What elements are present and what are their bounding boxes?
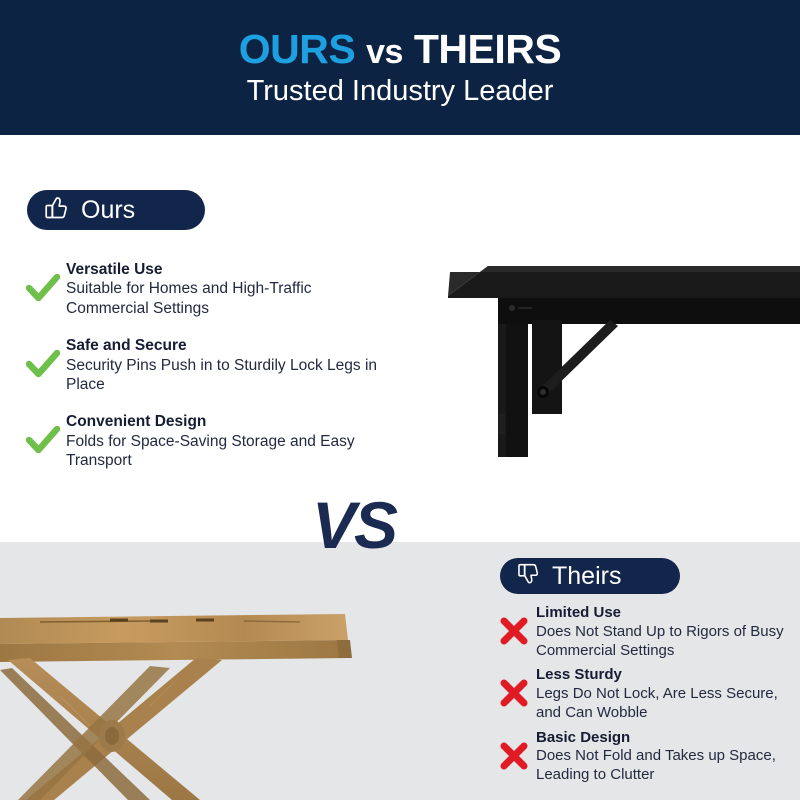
check-icon xyxy=(20,260,66,304)
feature-desc: Does Not Fold and Takes up Space, Leadin… xyxy=(536,747,792,785)
feature-text: Safe and Secure Security Pins Push in to… xyxy=(66,336,390,394)
theirs-badge: Theirs xyxy=(500,558,680,594)
theirs-product-image xyxy=(0,596,362,800)
feature-desc: Legs Do Not Lock, Are Less Secure, and C… xyxy=(536,685,792,723)
feature-text: Versatile Use Suitable for Homes and Hig… xyxy=(66,260,390,318)
list-item: Safe and Secure Security Pins Push in to… xyxy=(20,336,390,394)
ours-badge: Ours xyxy=(27,190,205,230)
page-subtitle: Trusted Industry Leader xyxy=(247,77,554,106)
list-item: Limited Use Does Not Stand Up to Rigors … xyxy=(492,604,792,660)
feature-title: Convenient Design xyxy=(66,412,390,431)
title-theirs-word: THEIRS xyxy=(414,26,561,72)
list-item: Versatile Use Suitable for Homes and Hig… xyxy=(20,260,390,318)
ours-product-image xyxy=(410,252,800,482)
list-item: Basic Design Does Not Fold and Takes up … xyxy=(492,729,792,785)
check-icon xyxy=(20,412,66,456)
feature-title: Safe and Secure xyxy=(66,336,390,355)
feature-text: Convenient Design Folds for Space-Saving… xyxy=(66,412,390,470)
feature-title: Limited Use xyxy=(536,604,792,623)
theirs-feature-list: Limited Use Does Not Stand Up to Rigors … xyxy=(492,604,792,791)
title-vs-word: vs xyxy=(366,33,403,71)
feature-text: Limited Use Does Not Stand Up to Rigors … xyxy=(536,604,792,660)
theirs-badge-label: Theirs xyxy=(552,564,621,589)
feature-text: Basic Design Does Not Fold and Takes up … xyxy=(536,729,792,785)
page-title: OURS vs THEIRS xyxy=(239,29,561,70)
feature-desc: Does Not Stand Up to Rigors of Busy Comm… xyxy=(536,623,792,661)
list-item: Less Sturdy Legs Do Not Lock, Are Less S… xyxy=(492,666,792,722)
check-icon xyxy=(20,336,66,380)
feature-title: Basic Design xyxy=(536,729,792,748)
feature-desc: Folds for Space-Saving Storage and Easy … xyxy=(66,432,390,471)
feature-desc: Suitable for Homes and High-Traffic Comm… xyxy=(66,279,390,318)
feature-desc: Security Pins Push in to Sturdily Lock L… xyxy=(66,356,390,395)
comparison-infographic: OURS vs THEIRS Trusted Industry Leader xyxy=(0,0,800,800)
feature-text: Less Sturdy Legs Do Not Lock, Are Less S… xyxy=(536,666,792,722)
vs-divider-label: VS xyxy=(312,492,396,558)
ours-badge-label: Ours xyxy=(81,198,135,223)
x-icon xyxy=(492,729,536,770)
header-banner: OURS vs THEIRS Trusted Industry Leader xyxy=(0,0,800,135)
list-item: Convenient Design Folds for Space-Saving… xyxy=(20,412,390,470)
x-icon xyxy=(492,604,536,645)
feature-title: Versatile Use xyxy=(66,260,390,279)
ours-feature-list: Versatile Use Suitable for Homes and Hig… xyxy=(20,260,390,488)
thumbs-down-icon xyxy=(516,561,541,591)
x-icon xyxy=(492,666,536,707)
feature-title: Less Sturdy xyxy=(536,666,792,685)
thumbs-up-icon xyxy=(43,195,70,226)
title-ours-word: OURS xyxy=(239,26,355,72)
